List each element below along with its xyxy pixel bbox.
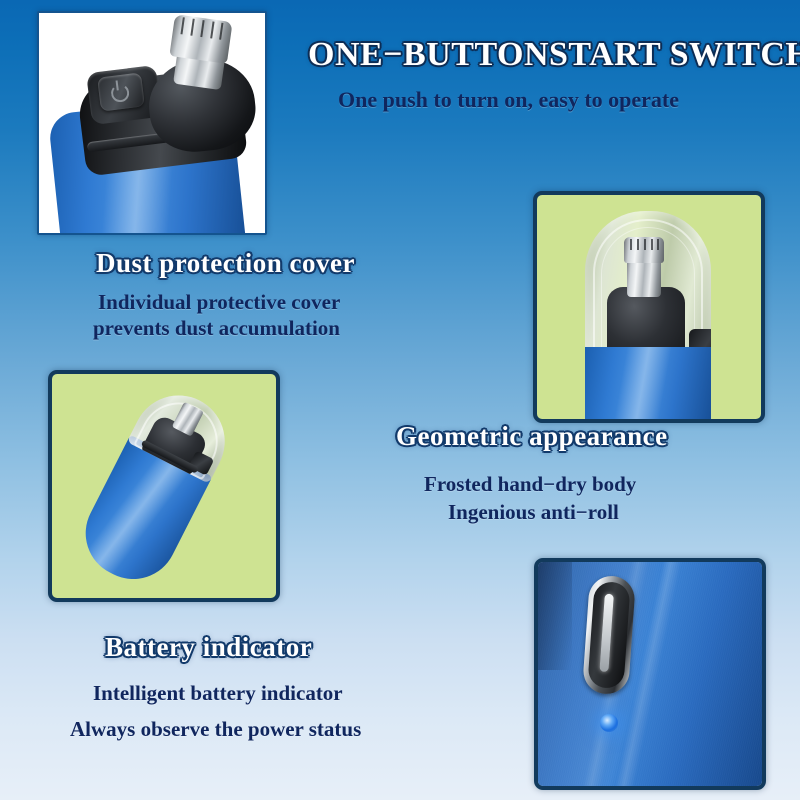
- trimmer-head-illustration: [39, 13, 265, 233]
- photo-panel-power-button-led-closeup: [534, 558, 766, 790]
- feature-line-battery-2: Always observe the power status: [70, 717, 361, 742]
- photo-panel-trimmer-head-closeup: [37, 11, 267, 235]
- power-button-icon: [97, 72, 145, 111]
- full-trimmer-illustration: [71, 380, 240, 593]
- feature-heading-geometric-appearance: Geometric appearance: [396, 421, 668, 452]
- feature-line-battery-1: Intelligent battery indicator: [93, 681, 343, 706]
- device-body: [585, 347, 711, 423]
- battery-indicator-led-icon: [600, 714, 618, 732]
- cutter-head: [624, 237, 664, 263]
- photo-panel-full-trimmer: [48, 370, 280, 602]
- feature-line-geometric-1: Frosted hand−dry body: [424, 472, 636, 497]
- power-button-icon: [582, 575, 636, 696]
- feature-line-dust-2: prevents dust accumulation: [93, 316, 340, 341]
- page-subtitle: One push to turn on, easy to operate: [338, 87, 679, 113]
- product-feature-poster: ONE−BUTTONSTART SWITCH One push to turn …: [0, 0, 800, 800]
- feature-heading-battery-indicator: Battery indicator: [105, 632, 312, 663]
- feature-heading-dust-protection-cover: Dust protection cover: [96, 248, 355, 279]
- feature-line-geometric-2: Ingenious anti−roll: [448, 500, 619, 525]
- cutter-head: [169, 14, 232, 64]
- feature-line-dust-1: Individual protective cover: [98, 290, 340, 315]
- photo-panel-trimmer-with-dust-cover: [533, 191, 765, 423]
- edge-shadow: [538, 562, 572, 670]
- page-title: ONE−BUTTONSTART SWITCH: [308, 36, 800, 74]
